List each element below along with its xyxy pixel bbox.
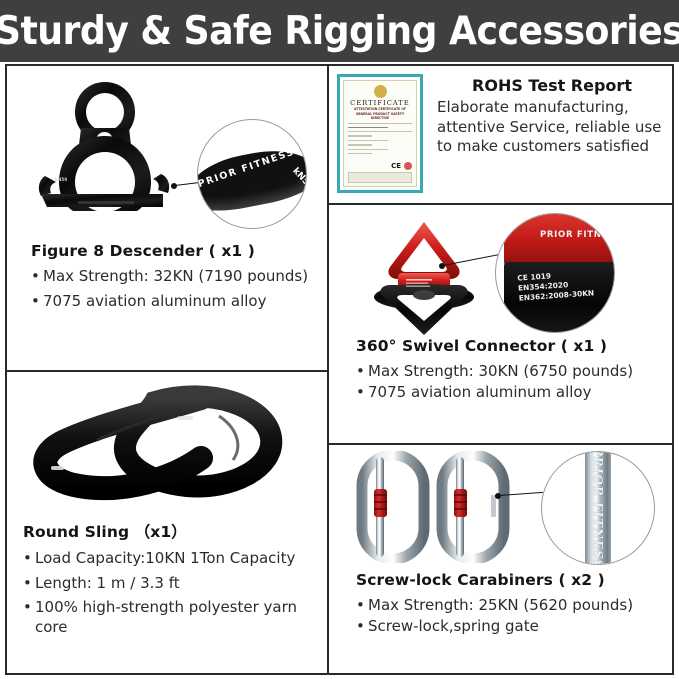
certificate-text-line: [348, 153, 372, 154]
figure-8-engraving-label: kN50: [55, 177, 67, 182]
swivel-svg: [362, 217, 492, 342]
carabiners-title: Screw-lock Carabiners ( x2 ): [356, 571, 674, 589]
figure-8-magnifier-callout: PRIOR FITNESS kN50: [197, 119, 307, 229]
swivel-text-block: 360° Swivel Connector ( x1 ) Max Strengt…: [356, 337, 671, 403]
swivel-magnified-body: PRIOR FITNESS CE 1019 EN354:2020 EN362:2…: [504, 213, 615, 326]
certificate-red-mark-icon: [404, 162, 412, 170]
certificate-inner: CERTIFICATE ATTESTATION CERTIFICATE OF G…: [343, 80, 417, 187]
certificate-text-line: [348, 144, 372, 145]
swivel-title: 360° Swivel Connector ( x1 ): [356, 337, 671, 355]
figure-8-svg: [23, 76, 183, 211]
figure-8-descender-image: kN50 PRIOR FITNESS kN50: [5, 64, 327, 229]
certificate-seal-icon: [374, 85, 387, 98]
ce-mark-icon: CE: [391, 162, 401, 170]
list-item: Max Strength: 25KN (5620 pounds): [356, 596, 674, 616]
carabiner-1-svg: [353, 451, 433, 563]
certificate-text-line: [348, 135, 372, 136]
swivel-bullet-list: Max Strength: 30KN (6750 pounds) 7075 av…: [356, 362, 671, 402]
product-infographic: Sturdy & Safe Rigging Accessories: [0, 0, 679, 679]
figure-8-brand-text: PRIOR FITNESS: [197, 147, 296, 190]
certificate-text-line: [348, 149, 388, 150]
carabiners-text-block: Screw-lock Carabiners ( x2 ) Max Strengt…: [356, 571, 674, 637]
round-sling-image: [5, 372, 327, 512]
page-title: Sturdy & Safe Rigging Accessories: [0, 12, 679, 51]
panel-rohs-test-report: CERTIFICATE ATTESTATION CERTIFICATE OF G…: [327, 64, 674, 203]
swivel-code-text: CE 1019 EN354:2020 EN362:2008-30KN: [517, 268, 594, 302]
round-sling-bullet-list: Load Capacity:10KN 1Ton Capacity Length:…: [23, 549, 328, 637]
figure-8-bullet-list: Max Strength: 32KN (7190 pounds) 7075 av…: [31, 267, 321, 311]
list-item: Max Strength: 32KN (7190 pounds): [31, 267, 321, 287]
swivel-brand-text: PRIOR FITNESS: [540, 230, 615, 240]
list-item: Max Strength: 30KN (6750 pounds): [356, 362, 671, 382]
carabiner-engraving-text: PRIOR FITNESS: [591, 451, 605, 565]
rohs-description: Elaborate manufacturing, attentive Servi…: [437, 98, 667, 157]
rohs-content-row: CERTIFICATE ATTESTATION CERTIFICATE OF G…: [337, 74, 667, 193]
screw-lock-carabiner-image: PRIOR FITNESS: [327, 445, 674, 565]
figure-8-engraved-band: PRIOR FITNESS kN50: [197, 142, 307, 219]
list-item: 7075 aviation aluminum alloy: [356, 383, 671, 403]
certificate-text-line: [348, 131, 412, 132]
figure-8-text-block: Figure 8 Descender ( x1 ) Max Strength: …: [31, 242, 321, 316]
certificate-divider: [348, 123, 412, 124]
list-item: 100% high-strength polyester yarn core: [23, 598, 328, 637]
carabiner-2-svg: [433, 451, 513, 563]
list-item: Length: 1 m / 3.3 ft: [23, 574, 328, 594]
carabiners-bullet-list: Max Strength: 25KN (5620 pounds) Screw-l…: [356, 596, 674, 636]
certificate-heading: CERTIFICATE: [348, 99, 412, 107]
certificate-footer: CE: [348, 162, 412, 183]
figure-8-body-icon: kN50: [23, 76, 183, 211]
figure-8-rating-text: kN50: [290, 166, 307, 192]
panel-round-sling: Round Sling （x1） Load Capacity:10KN 1Ton…: [5, 372, 327, 675]
certificate-text-line: [348, 140, 388, 141]
certificate-thumbnail: CERTIFICATE ATTESTATION CERTIFICATE OF G…: [337, 74, 423, 193]
swivel-body-icon: [362, 217, 492, 342]
list-item: Screw-lock,spring gate: [356, 617, 674, 637]
round-sling-svg: [5, 372, 327, 512]
carabiner-magnifier-callout: PRIOR FITNESS: [541, 451, 655, 565]
rohs-text-block: ROHS Test Report Elaborate manufacturing…: [437, 74, 667, 157]
round-sling-text-block: Round Sling （x1） Load Capacity:10KN 1Ton…: [23, 520, 328, 642]
panel-figure-8-descender: kN50 PRIOR FITNESS kN50 Figure 8 Descend…: [5, 64, 327, 370]
panel-swivel-connector: PRIOR FITNESS CE 1019 EN354:2020 EN362:2…: [327, 205, 674, 379]
rohs-title: ROHS Test Report: [437, 76, 667, 95]
certificate-subheading-2: GENERAL PRODUCT SAFETY DIRECTIVE: [348, 113, 412, 121]
certificate-text-line: [348, 127, 388, 128]
header-banner: Sturdy & Safe Rigging Accessories: [0, 0, 679, 62]
swivel-connector-image: PRIOR FITNESS CE 1019 EN354:2020 EN362:2…: [327, 205, 674, 335]
figure-8-title: Figure 8 Descender ( x1 ): [31, 242, 321, 260]
list-item: Load Capacity:10KN 1Ton Capacity: [23, 549, 328, 569]
swivel-magnifier-callout: PRIOR FITNESS CE 1019 EN354:2020 EN362:2…: [495, 213, 615, 333]
list-item: 7075 aviation aluminum alloy: [31, 292, 321, 312]
certificate-marks: CE: [348, 162, 412, 170]
panel-screw-lock-carabiners: PRIOR FITNESS Screw-lock Carabiners ( x2…: [327, 445, 674, 675]
certificate-footer-block: [348, 172, 412, 183]
round-sling-title: Round Sling （x1）: [23, 520, 328, 542]
